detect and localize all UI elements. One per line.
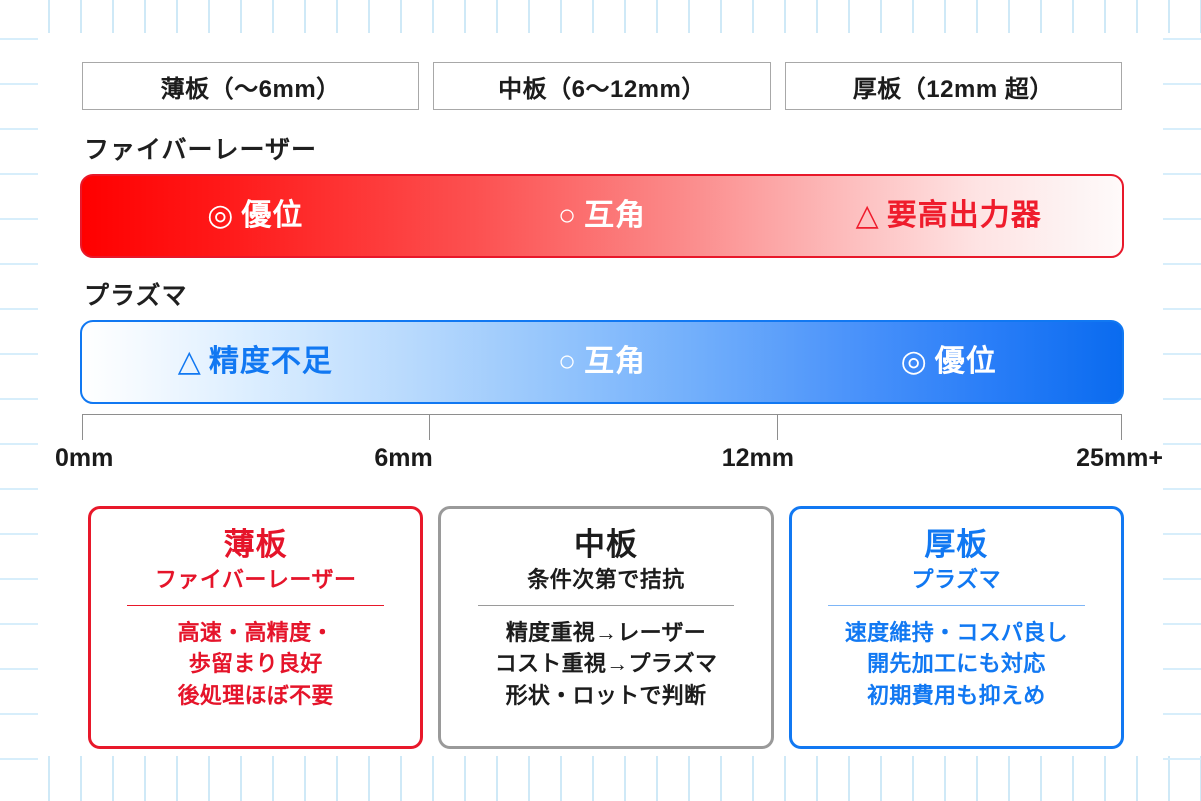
summary-card-medium-title: 中板 <box>574 527 638 563</box>
rating-mark-double-circle-icon: ◎ <box>901 347 927 377</box>
rating-mark-triangle-icon: △ <box>178 347 201 377</box>
summary-card-thin-lines: 高速・高精度・ 歩留まり良好 後処理ほぼ不要 <box>178 617 334 711</box>
axis-tick <box>1121 414 1122 440</box>
rating-bar-fiber-laser: ◎ 優位 ○ 互角 △ 要高出力器 <box>80 174 1124 258</box>
rating-text-plasma-thick: 優位 <box>935 347 997 377</box>
axis-line <box>82 414 1122 415</box>
axis-tick <box>82 414 83 440</box>
summary-line: 形状・ロットで判断 <box>495 680 718 711</box>
summary-line: 歩留まり良好 <box>178 648 334 679</box>
summary-line: 初期費用も抑えめ <box>845 680 1068 711</box>
rating-cell-plasma-medium: ○ 互角 <box>429 322 776 402</box>
thickness-header-medium: 中板（6〜12mm） <box>433 62 770 110</box>
rating-text-fiber-medium: 互角 <box>584 201 646 231</box>
rating-cell-plasma-thin: △ 精度不足 <box>82 322 429 402</box>
summary-card-thick: 厚板 プラズマ 速度維持・コスパ良し 開先加工にも対応 初期費用も抑えめ <box>789 506 1124 749</box>
rating-bar-plasma: △ 精度不足 ○ 互角 ◎ 優位 <box>80 320 1124 404</box>
summary-line: 後処理ほぼ不要 <box>178 680 334 711</box>
thickness-header-thick: 厚板（12mm 超） <box>785 62 1122 110</box>
summary-card-row: 薄板 ファイバーレーザー 高速・高精度・ 歩留まり良好 後処理ほぼ不要 中板 条… <box>88 506 1124 749</box>
summary-card-thick-subtitle: プラズマ <box>912 566 1002 594</box>
thickness-header-thick-label: 厚板（12mm 超） <box>853 69 1054 104</box>
summary-card-thin-subtitle: ファイバーレーザー <box>155 566 357 594</box>
axis-tick-label: 25mm+ <box>1076 444 1163 473</box>
summary-card-medium-subtitle: 条件次第で拮抗 <box>527 566 685 594</box>
rating-text-fiber-thick: 要高出力器 <box>887 201 1042 231</box>
rating-cell-fiber-thick: △ 要高出力器 <box>775 176 1122 256</box>
thickness-axis <box>82 414 1122 442</box>
summary-card-thick-title: 厚板 <box>924 527 988 563</box>
summary-line: 速度維持・コスパ良し <box>845 617 1068 648</box>
thickness-header-thin-label: 薄板（〜6mm） <box>161 69 341 104</box>
thickness-header-row: 薄板（〜6mm） 中板（6〜12mm） 厚板（12mm 超） <box>82 62 1122 110</box>
axis-tick-label: 0mm <box>55 444 113 473</box>
rating-cell-plasma-thick: ◎ 優位 <box>775 322 1122 402</box>
rating-mark-circle-icon: ○ <box>558 201 576 231</box>
summary-card-medium: 中板 条件次第で拮抗 精度重視→レーザー コスト重視→プラズマ 形状・ロットで判… <box>438 506 773 749</box>
row-label-plasma: プラズマ <box>84 276 188 312</box>
rating-text-plasma-medium: 互角 <box>584 347 646 377</box>
summary-card-medium-divider <box>478 605 735 606</box>
summary-line: 高速・高精度・ <box>178 617 334 648</box>
summary-line: コスト重視→プラズマ <box>495 648 718 679</box>
rating-text-fiber-thin: 優位 <box>241 201 303 231</box>
summary-line: 精度重視→レーザー <box>495 617 718 648</box>
rating-mark-triangle-icon: △ <box>856 201 879 231</box>
summary-card-thin-title: 薄板 <box>224 527 288 563</box>
axis-tick <box>429 414 430 440</box>
rating-mark-double-circle-icon: ◎ <box>207 201 233 231</box>
summary-line: 開先加工にも対応 <box>845 648 1068 679</box>
summary-card-thick-divider <box>828 605 1085 606</box>
thickness-header-medium-label: 中板（6〜12mm） <box>498 69 706 104</box>
summary-card-thin: 薄板 ファイバーレーザー 高速・高精度・ 歩留まり良好 後処理ほぼ不要 <box>88 506 423 749</box>
axis-tick <box>777 414 778 440</box>
summary-card-thick-lines: 速度維持・コスパ良し 開先加工にも対応 初期費用も抑えめ <box>845 617 1068 711</box>
axis-tick-label: 12mm <box>722 444 794 473</box>
axis-tick-label: 6mm <box>374 444 432 473</box>
row-label-fiber-laser: ファイバーレーザー <box>84 130 317 166</box>
thickness-header-thin: 薄板（〜6mm） <box>82 62 419 110</box>
summary-card-medium-lines: 精度重視→レーザー コスト重視→プラズマ 形状・ロットで判断 <box>495 617 718 711</box>
summary-card-thin-divider <box>127 605 384 606</box>
rating-text-plasma-thin: 精度不足 <box>209 347 333 377</box>
rating-cell-fiber-thin: ◎ 優位 <box>82 176 429 256</box>
rating-cell-fiber-medium: ○ 互角 <box>429 176 776 256</box>
rating-mark-circle-icon: ○ <box>558 347 576 377</box>
